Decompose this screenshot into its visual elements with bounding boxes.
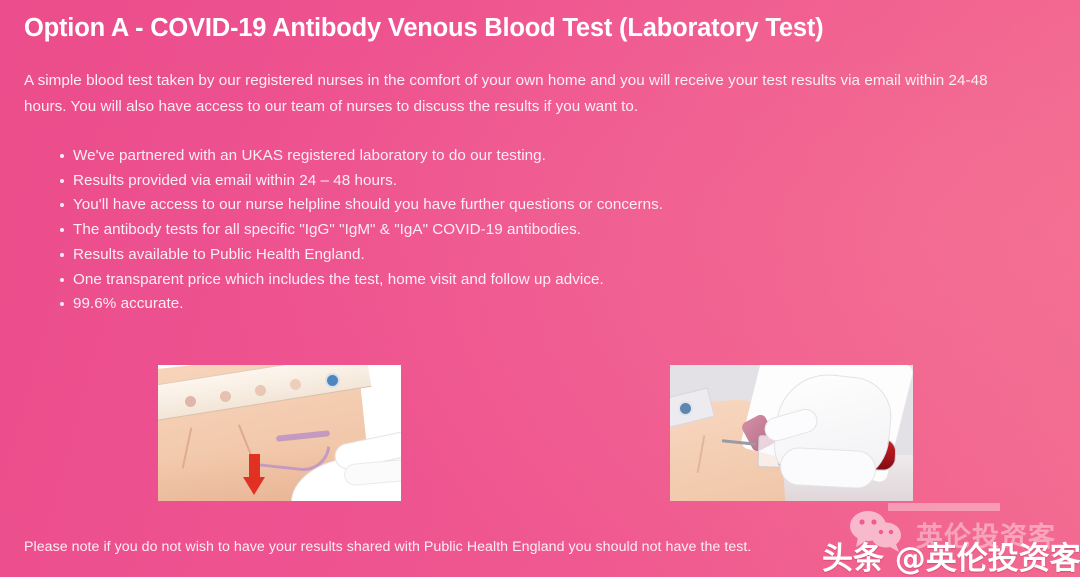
footnote-text: Please note if you do not wish to have y… — [24, 537, 924, 557]
feature-bullet-list: We've partnered with an UKAS registered … — [60, 144, 1020, 317]
page-title: Option A - COVID-19 Antibody Venous Bloo… — [24, 11, 1044, 45]
illustration-canvas — [670, 365, 913, 501]
list-item: One transparent price which includes the… — [60, 268, 1020, 293]
tourniquet-snap-icon — [255, 385, 266, 396]
finger-shape — [779, 447, 877, 490]
tourniquet-buckle-icon — [325, 373, 340, 388]
slide-root: Option A - COVID-19 Antibody Venous Bloo… — [0, 0, 1080, 577]
tourniquet-snap-icon — [185, 396, 196, 407]
intro-paragraph: A simple blood test taken by our registe… — [24, 68, 1024, 120]
tourniquet-buckle-icon — [678, 401, 693, 416]
list-item: Results provided via email within 24 – 4… — [60, 169, 1020, 194]
illustration-canvas — [158, 365, 401, 501]
watermark-main-text: 头条 @英伦投资客 — [822, 533, 1080, 577]
list-item: We've partnered with an UKAS registered … — [60, 144, 1020, 169]
list-item: You'll have access to our nurse helpline… — [60, 193, 1020, 218]
blood-collection-tube-illustration — [670, 365, 913, 501]
list-item: Results available to Public Health Engla… — [60, 243, 1020, 268]
list-item: 99.6% accurate. — [60, 292, 1020, 317]
venepuncture-site-illustration — [158, 365, 401, 501]
tourniquet-snap-icon — [220, 391, 231, 402]
watermark: 英伦投资客 头条 @英伦投资客 — [822, 505, 1072, 575]
tourniquet-snap-icon — [290, 379, 301, 390]
down-arrow-icon — [243, 477, 265, 495]
list-item: The antibody tests for all specific "IgG… — [60, 218, 1020, 243]
watermark-strip — [888, 503, 1000, 511]
